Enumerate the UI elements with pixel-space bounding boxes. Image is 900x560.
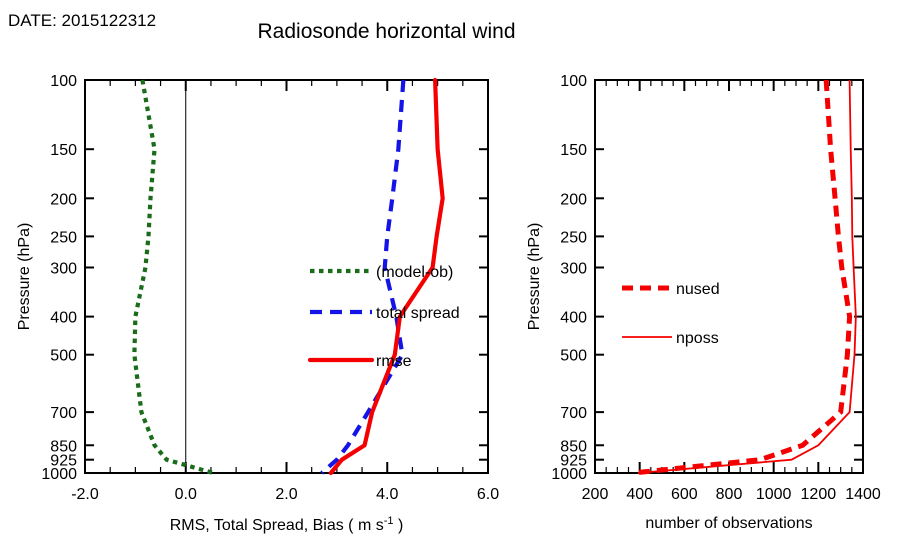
legend-total-spread-label: total spread [376,305,460,322]
right-panel-ytick-label-1000: 1000 [551,466,587,483]
date-label: DATE: 2015122312 [8,11,156,30]
right-panel-xtick-label-5: 1200 [801,486,837,503]
right-panel-xtick-label-0: 200 [582,486,609,503]
left-panel-ytick-label-250: 250 [50,229,77,246]
legend-model-ob-label: (model-ob) [376,264,453,281]
radiosonde-verification-figure: DATE: 2015122312Radiosonde horizontal wi… [0,0,900,560]
right-series-nused [633,80,850,473]
left-panel-ytick-label-500: 500 [50,348,77,365]
right-panel-ytick-label-700: 700 [560,405,587,422]
right-panel-xtick-label-6: 1400 [845,486,881,503]
legend-rmse-label: rmse [376,353,412,370]
left-series--model-ob- [134,80,213,473]
right-panel-ytick-label-300: 300 [560,261,587,278]
left-panel-ytick-label-150: 150 [50,142,77,159]
right-panel-xtick-label-3: 800 [716,486,743,503]
left-panel-xtick-label-0: -2.0 [71,486,99,503]
legend-nposs-label: nposs [676,330,719,347]
right-panel-xlabel: number of observations [645,515,812,532]
left-panel-ytick-label-100: 100 [50,73,77,90]
right-panel-ytick-label-250: 250 [560,229,587,246]
left-panel-xtick-label-1: 0.0 [175,486,197,503]
left-panel-ytick-label-200: 200 [50,191,77,208]
right-panel-ytick-label-500: 500 [560,348,587,365]
figure-title: Radiosonde horizontal wind [258,20,516,43]
left-panel-xtick-label-4: 6.0 [477,486,499,503]
left-panel-ytick-label-1000: 1000 [41,466,77,483]
right-panel-ytick-label-100: 100 [560,73,587,90]
left-panel-ytick-label-400: 400 [50,310,77,327]
right-panel-ylabel: Pressure (hPa) [526,223,543,331]
right-panel-axes-frame [595,80,863,473]
left-panel-ytick-label-700: 700 [50,405,77,422]
left-panel-ylabel: Pressure (hPa) [16,223,33,331]
left-panel-xlabel: RMS, Total Spread, Bias ( m s-1 ) [170,515,404,534]
right-panel-ytick-label-200: 200 [560,191,587,208]
right-panel-ytick-label-150: 150 [560,142,587,159]
right-panel-xtick-label-4: 1000 [756,486,792,503]
right-series-nposs [638,80,856,473]
left-panel-ytick-label-300: 300 [50,261,77,278]
right-panel-xtick-label-1: 400 [626,486,653,503]
legend-nused-label: nused [676,281,720,298]
right-panel-xtick-label-2: 600 [671,486,698,503]
figure-canvas: DATE: 2015122312Radiosonde horizontal wi… [0,0,900,560]
left-panel-xtick-label-3: 4.0 [376,486,398,503]
right-panel-ytick-label-400: 400 [560,310,587,327]
left-panel-xtick-label-2: 2.0 [275,486,297,503]
